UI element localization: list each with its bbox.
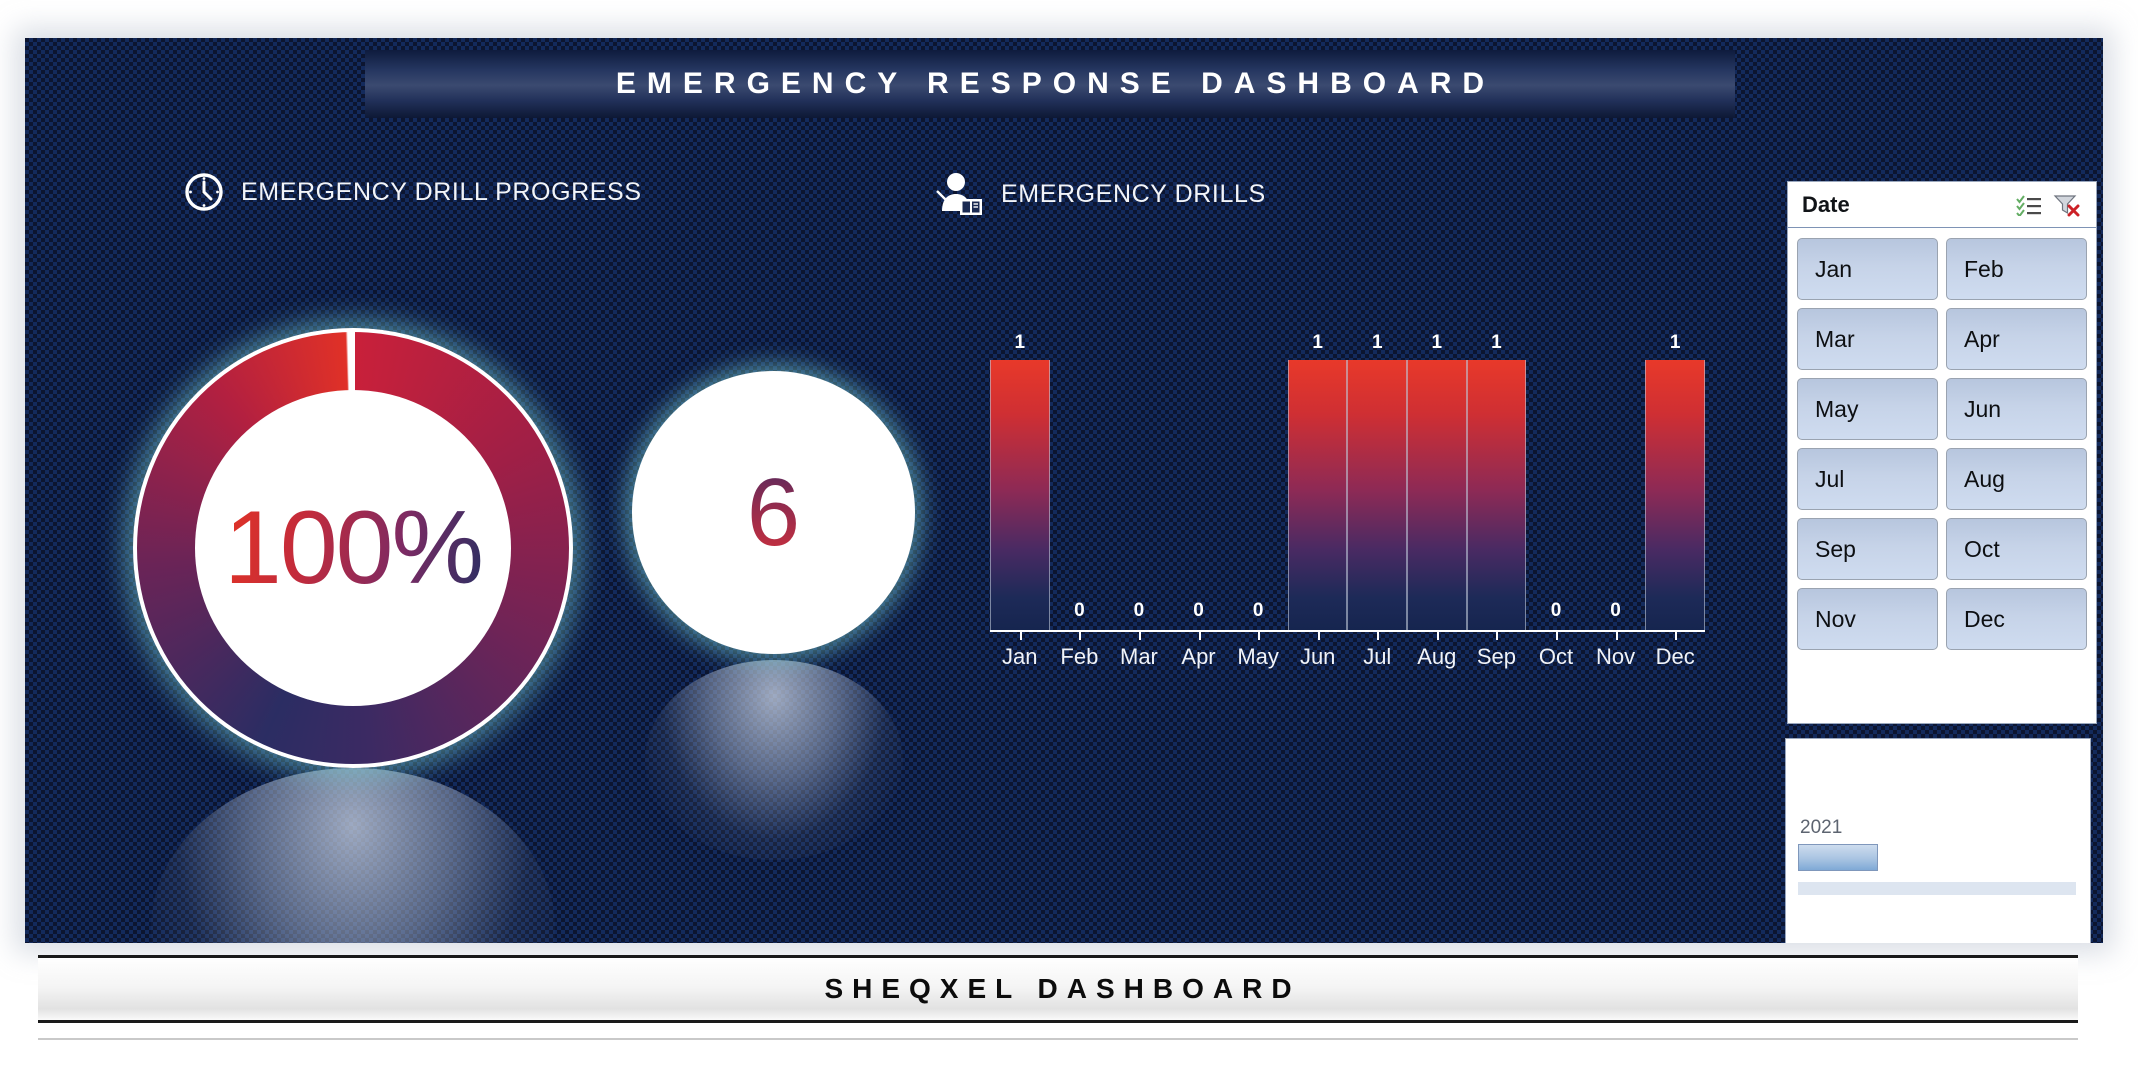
bar-chart-category-labels: JanFebMarAprMayJunJulAugSepOctNovDec <box>990 644 1705 678</box>
date-slicer-header: Date <box>1788 182 2096 228</box>
slicer-option-feb[interactable]: Feb <box>1946 238 2087 300</box>
slicer-option-may[interactable]: May <box>1797 378 1938 440</box>
category-label: Aug <box>1407 644 1467 678</box>
drill-progress-gauge: 100% <box>133 328 573 768</box>
bar-column: 0 <box>1109 360 1169 630</box>
timeline-selection-handle[interactable] <box>1798 844 1878 871</box>
slicer-option-mar[interactable]: Mar <box>1797 308 1938 370</box>
category-label: May <box>1228 644 1288 678</box>
bar-value-label: 0 <box>1228 600 1288 622</box>
kpi-value-label: 6 <box>747 458 800 568</box>
bar: 1 <box>1347 360 1407 630</box>
bar-value-label: 0 <box>1526 600 1586 622</box>
dashboard-board: EMERGENCY RESPONSE DASHBOARD EMERGENCY D… <box>25 38 2103 943</box>
bar-column: 0 <box>1228 360 1288 630</box>
bar: 1 <box>990 360 1050 630</box>
axis-tick <box>990 632 1050 640</box>
axis-tick <box>1228 632 1288 640</box>
timeline-scroll-track[interactable] <box>1798 882 2076 895</box>
kpi-circle: 6 <box>632 371 915 654</box>
kpi-reflection <box>645 660 903 860</box>
category-label: Nov <box>1586 644 1646 678</box>
category-label: Jan <box>990 644 1050 678</box>
dashboard-footer: SHEQXEL DASHBOARD <box>38 955 2078 1023</box>
section-title-drill-progress: EMERGENCY DRILL PROGRESS <box>241 178 642 207</box>
dashboard-title-banner: EMERGENCY RESPONSE DASHBOARD <box>365 50 1735 118</box>
bar-value-label: 0 <box>1586 600 1646 622</box>
axis-tick <box>1050 632 1110 640</box>
footer-title: SHEQXEL DASHBOARD <box>815 973 1300 1005</box>
bar-chart-plot-area: 100001111001 <box>990 360 1705 630</box>
slicer-option-dec[interactable]: Dec <box>1946 588 2087 650</box>
bar-value-label: 1 <box>1288 332 1348 354</box>
category-label: Apr <box>1169 644 1229 678</box>
bar: 1 <box>1288 360 1348 630</box>
bar-chart-ticks <box>990 632 1705 640</box>
axis-tick <box>1288 632 1348 640</box>
date-slicer-options: JanFebMarAprMayJunJulAugSepOctNovDec <box>1788 228 2096 659</box>
section-header-drill-progress: EMERGENCY DRILL PROGRESS <box>183 171 642 213</box>
axis-tick <box>1407 632 1467 640</box>
bar-column: 1 <box>1407 360 1467 630</box>
slicer-option-aug[interactable]: Aug <box>1946 448 2087 510</box>
axis-tick <box>1347 632 1407 640</box>
category-label: Feb <box>1050 644 1110 678</box>
category-label: Jul <box>1347 644 1407 678</box>
bar-value-label: 1 <box>1645 332 1705 354</box>
bar-value-label: 0 <box>1050 600 1110 622</box>
axis-tick <box>1645 632 1705 640</box>
slicer-option-apr[interactable]: Apr <box>1946 308 2087 370</box>
gauge-center: 100% <box>195 390 511 706</box>
category-label: Jun <box>1288 644 1348 678</box>
bar: 1 <box>1645 360 1705 630</box>
slicer-option-jan[interactable]: Jan <box>1797 238 1938 300</box>
date-slicer[interactable]: Date <box>1787 181 2097 724</box>
section-title-emergency-drills: EMERGENCY DRILLS <box>1001 180 1266 209</box>
drill-count-kpi: 6 <box>632 371 915 654</box>
slicer-option-jul[interactable]: Jul <box>1797 448 1938 510</box>
date-slicer-title: Date <box>1802 192 2008 218</box>
axis-tick <box>1586 632 1646 640</box>
bar-value-label: 0 <box>1169 600 1229 622</box>
gauge-value-label: 100% <box>224 489 482 608</box>
multi-select-icon[interactable] <box>2012 190 2046 220</box>
bar: 1 <box>1467 360 1527 630</box>
gauge-reflection <box>151 768 555 943</box>
bar-column: 1 <box>1347 360 1407 630</box>
slicer-option-sep[interactable]: Sep <box>1797 518 1938 580</box>
bar-column: 0 <box>1050 360 1110 630</box>
bar-column: 1 <box>990 360 1050 630</box>
clock-icon <box>183 171 225 213</box>
bar-column: 1 <box>1288 360 1348 630</box>
axis-tick <box>1169 632 1229 640</box>
slicer-option-jun[interactable]: Jun <box>1946 378 2087 440</box>
bar-value-label: 0 <box>1109 600 1169 622</box>
bar-column: 0 <box>1526 360 1586 630</box>
category-label: Mar <box>1109 644 1169 678</box>
axis-tick <box>1109 632 1169 640</box>
timeline-year-label: 2021 <box>1800 817 1842 839</box>
category-label: Sep <box>1467 644 1527 678</box>
page-title: EMERGENCY RESPONSE DASHBOARD <box>605 67 1495 101</box>
bar-value-label: 1 <box>1347 332 1407 354</box>
bar-column: 1 <box>1467 360 1527 630</box>
dashboard-page: EMERGENCY RESPONSE DASHBOARD EMERGENCY D… <box>0 0 2138 1078</box>
category-label: Dec <box>1645 644 1705 678</box>
bar-column: 0 <box>1169 360 1229 630</box>
bar-value-label: 1 <box>1467 332 1527 354</box>
slicer-option-oct[interactable]: Oct <box>1946 518 2087 580</box>
footer-divider <box>38 1038 2078 1040</box>
emergency-drills-bar-chart: 100001111001 JanFebMarAprMayJunJulAugSep… <box>990 338 1705 678</box>
bar: 1 <box>1407 360 1467 630</box>
axis-tick <box>1526 632 1586 640</box>
slicer-option-nov[interactable]: Nov <box>1797 588 1938 650</box>
bar-value-label: 1 <box>1407 332 1467 354</box>
clear-filter-icon[interactable] <box>2050 190 2084 220</box>
bar-value-label: 1 <box>990 332 1050 354</box>
bar-column: 0 <box>1586 360 1646 630</box>
bar-column: 1 <box>1645 360 1705 630</box>
category-label: Oct <box>1526 644 1586 678</box>
axis-tick <box>1467 632 1527 640</box>
presenter-icon <box>935 171 985 217</box>
section-header-emergency-drills: EMERGENCY DRILLS <box>935 171 1266 217</box>
year-timeline-slicer[interactable]: 2021 <box>1785 738 2091 943</box>
